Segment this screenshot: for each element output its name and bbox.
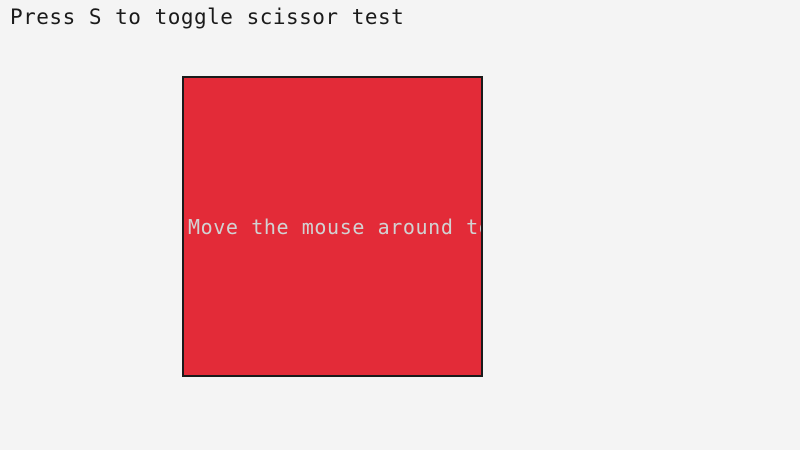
app-canvas: Press S to toggle scissor test Move the … xyxy=(0,0,800,450)
instruction-label: Press S to toggle scissor test xyxy=(10,4,404,30)
scissor-clipped-label: Move the mouse around to r xyxy=(188,215,483,239)
scissor-rectangle: Move the mouse around to r xyxy=(182,76,483,377)
